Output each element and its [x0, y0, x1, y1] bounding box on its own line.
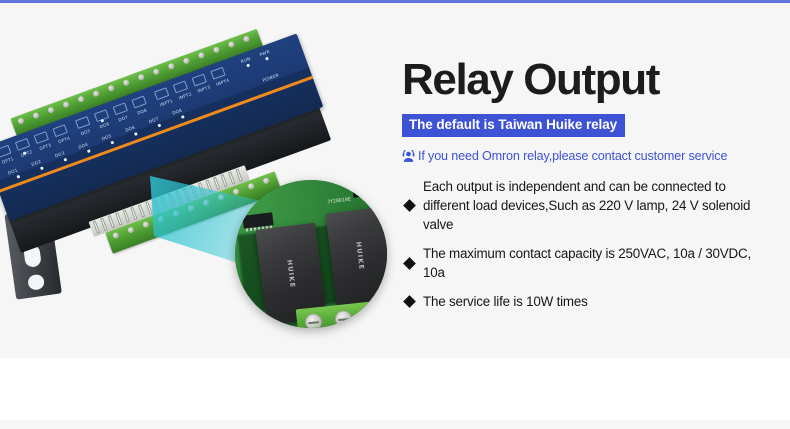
default-relay-badge: The default is Taiwan Huike relay: [402, 114, 625, 137]
bottom-gray-strip: [0, 420, 790, 429]
feature-list: Each output is independent and can be co…: [405, 177, 774, 311]
list-item: Each output is independent and can be co…: [405, 177, 774, 234]
list-item: The service life is 10W times: [405, 292, 774, 311]
feature-text: Each output is independent and can be co…: [423, 177, 774, 234]
diamond-bullet-icon: [403, 257, 416, 270]
relay-brand-marking: HUIKE: [285, 259, 296, 288]
customer-service-note: If you need Omron relay,please contact c…: [402, 149, 774, 164]
page-title: Relay Output: [402, 55, 774, 105]
diamond-bullet-icon: [403, 295, 416, 308]
copy-column: Relay Output The default is Taiwan Huike…: [402, 55, 774, 311]
driver-ic: [242, 212, 273, 229]
relay-module: HUIKE: [326, 207, 387, 305]
diamond-bullet-icon: [403, 199, 416, 212]
page-root: OPT1 OPT2 OPT3 OPT4 DO5 DO6 DO7 DO8 INPT…: [0, 0, 790, 429]
list-item: The maximum contact capacity is 250VAC, …: [405, 244, 774, 282]
customer-service-text: If you need Omron relay,please contact c…: [418, 149, 727, 164]
feature-text: The service life is 10W times: [423, 292, 588, 311]
relay-brand-marking: HUIKE: [354, 241, 365, 270]
relay-closeup-loupe: JY20D10E HUIKE HUIKE: [235, 180, 387, 328]
product-photo: OPT1 OPT2 OPT3 OPT4 DO5 DO6 DO7 DO8 INPT…: [0, 40, 400, 360]
customer-service-icon: [402, 150, 415, 163]
feature-text: The maximum contact capacity is 250VAC, …: [423, 244, 774, 282]
